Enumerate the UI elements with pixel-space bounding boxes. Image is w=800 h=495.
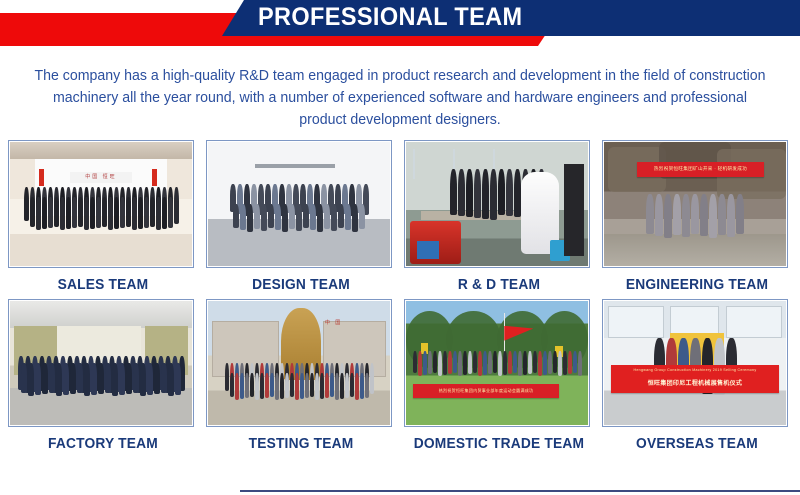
footer-divider — [240, 490, 800, 492]
page-header-banner: PROFESSIONAL TEAM — [0, 0, 800, 50]
domestic-trade-team-photo[interactable]: 热烈祝贺恒旺集团内贸事业部年度运动会圆满成功 — [404, 299, 590, 427]
overseas-photo-board-right — [726, 306, 783, 338]
overseas-photo-board-left — [608, 306, 665, 338]
caption-overseas-team: OVERSEAS TEAM — [607, 427, 788, 452]
caption-testing-team: TESTING TEAM — [211, 427, 392, 452]
team-row-1: 中国 恒旺 SALES TEAM — [0, 140, 800, 293]
testing-team-photo[interactable]: 中 国 — [206, 299, 392, 427]
team-cell-sales[interactable]: 中国 恒旺 SALES TEAM — [8, 140, 198, 293]
team-cell-rd[interactable]: R & D TEAM — [404, 140, 594, 293]
team-cell-domestic-trade[interactable]: 热烈祝贺恒旺集团内贸事业部年度运动会圆满成功 DOMESTIC TRADE TE… — [404, 299, 594, 452]
intro-paragraph: The company has a high-quality R&D team … — [34, 65, 765, 131]
sales-team-photo[interactable]: 中国 恒旺 — [8, 140, 194, 268]
page-title: PROFESSIONAL TEAM — [258, 0, 522, 36]
team-cell-testing[interactable]: 中 国 TESTING TEAM — [206, 299, 396, 452]
caption-design-team: DESIGN TEAM — [211, 268, 392, 293]
photo-wall-logo-text: 中国 恒旺 — [70, 172, 132, 183]
overseas-photo-banner-en: Hengwang Group Construction Machinery 20… — [611, 365, 778, 375]
factory-team-photo[interactable] — [8, 299, 194, 427]
overseas-photo-banner-cn: 恒旺集团印尼工程机械展售机仪式 — [611, 375, 778, 392]
domestic-photo-banner: 热烈祝贺恒旺集团内贸事业部年度运动会圆满成功 — [413, 384, 559, 398]
engineering-team-photo[interactable]: 热烈祝贺恒旺集团矿山开采 · 轻机研发成功 — [602, 140, 788, 268]
caption-rd-team: R & D TEAM — [409, 268, 590, 293]
caption-factory-team: FACTORY TEAM — [13, 427, 194, 452]
team-cell-factory[interactable]: FACTORY TEAM — [8, 299, 198, 452]
team-cell-design[interactable]: DESIGN TEAM — [206, 140, 396, 293]
caption-sales-team: SALES TEAM — [13, 268, 194, 293]
caption-engineering-team: ENGINEERING TEAM — [607, 268, 788, 293]
team-row-2: FACTORY TEAM 中 国 TESTING TEAM — [0, 299, 800, 452]
team-cell-engineering[interactable]: 热烈祝贺恒旺集团矿山开采 · 轻机研发成功 ENGINEERING TEAM — [602, 140, 792, 293]
overseas-team-photo[interactable]: Hengwang Group Construction Machinery 20… — [602, 299, 788, 427]
team-photo-grid: 中国 恒旺 SALES TEAM — [0, 140, 800, 458]
caption-domestic-trade-team: DOMESTIC TRADE TEAM — [409, 427, 590, 452]
rd-team-photo[interactable] — [404, 140, 590, 268]
design-team-photo[interactable] — [206, 140, 392, 268]
engineering-photo-banner: 热烈祝贺恒旺集团矿山开采 · 轻机研发成功 — [637, 162, 764, 177]
team-cell-overseas[interactable]: Hengwang Group Construction Machinery 20… — [602, 299, 792, 452]
testing-photo-rock-text: 中 国 — [317, 318, 350, 329]
